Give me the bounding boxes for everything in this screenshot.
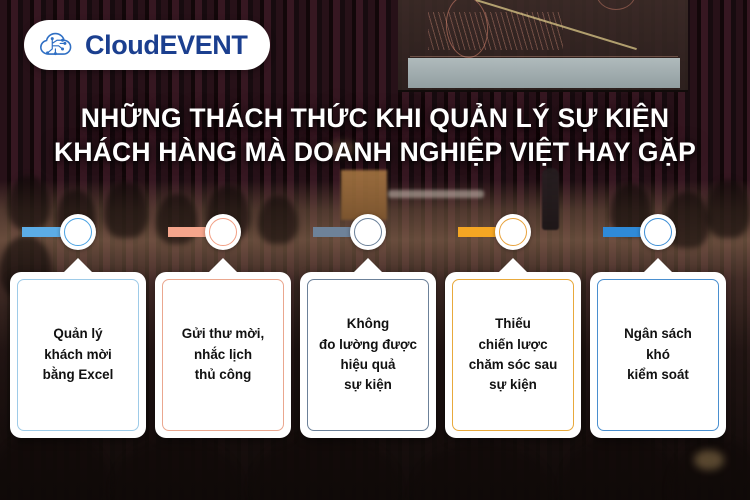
screen-lower-panel (408, 58, 680, 88)
infographic-canvas: CloudEVENT NHỮNG THÁCH THỨC KHI QUẢN LÝ … (0, 0, 750, 500)
card-text: Gửi thư mời, nhắc lịch thủ công (182, 324, 264, 385)
card-pointer (498, 258, 528, 273)
card-text: Ngân sách khó kiểm soát (624, 324, 692, 385)
challenge-card-4[interactable]: Thiếu chiến lược chăm sóc sau sự kiện (445, 272, 581, 438)
timeline-node-3[interactable] (350, 214, 386, 250)
card-inner-border: Quản lý khách mời bằng Excel (17, 279, 139, 431)
projection-screen (398, 0, 688, 92)
card-inner-border: Gửi thư mời, nhắc lịch thủ công (162, 279, 284, 431)
timeline (0, 214, 750, 250)
card-text: Quản lý khách mời bằng Excel (43, 324, 114, 385)
screen-highlight-ellipse-2 (596, 0, 636, 10)
card-pointer (208, 258, 238, 273)
timeline-node-2[interactable] (205, 214, 241, 250)
brand-logo[interactable]: CloudEVENT (24, 20, 270, 70)
page-title: NHỮNG THÁCH THỨC KHI QUẢN LÝ SỰ KIỆN KHÁ… (0, 102, 750, 170)
cloud-circuit-icon (38, 30, 76, 60)
card-text: Thiếu chiến lược chăm sóc sau sự kiện (469, 314, 558, 396)
timeline-node-1[interactable] (60, 214, 96, 250)
brand-logo-text: CloudEVENT (85, 30, 248, 61)
card-inner-border: Không đo lường được hiệu quả sự kiện (307, 279, 429, 431)
page-title-line-2: KHÁCH HÀNG MÀ DOANH NGHIỆP VIỆT HAY GẶP (0, 136, 750, 170)
card-text: Không đo lường được hiệu quả sự kiện (319, 314, 417, 396)
card-inner-border: Ngân sách khó kiểm soát (597, 279, 719, 431)
stage-table (388, 190, 484, 198)
timeline-node-4[interactable] (495, 214, 531, 250)
timeline-node-5[interactable] (640, 214, 676, 250)
card-inner-border: Thiếu chiến lược chăm sóc sau sự kiện (452, 279, 574, 431)
challenge-card-2[interactable]: Gửi thư mời, nhắc lịch thủ công (155, 272, 291, 438)
podium (341, 170, 387, 220)
card-pointer (353, 258, 383, 273)
challenge-card-1[interactable]: Quản lý khách mời bằng Excel (10, 272, 146, 438)
card-pointer (63, 258, 93, 273)
screen-axis-line (410, 56, 678, 57)
page-title-line-1: NHỮNG THÁCH THỨC KHI QUẢN LÝ SỰ KIỆN (81, 103, 669, 133)
screen-highlight-ellipse (443, 0, 491, 60)
challenge-card-5[interactable]: Ngân sách khó kiểm soát (590, 272, 726, 438)
stage-light (694, 450, 724, 470)
challenge-card-3[interactable]: Không đo lường được hiệu quả sự kiện (300, 272, 436, 438)
card-pointer (643, 258, 673, 273)
